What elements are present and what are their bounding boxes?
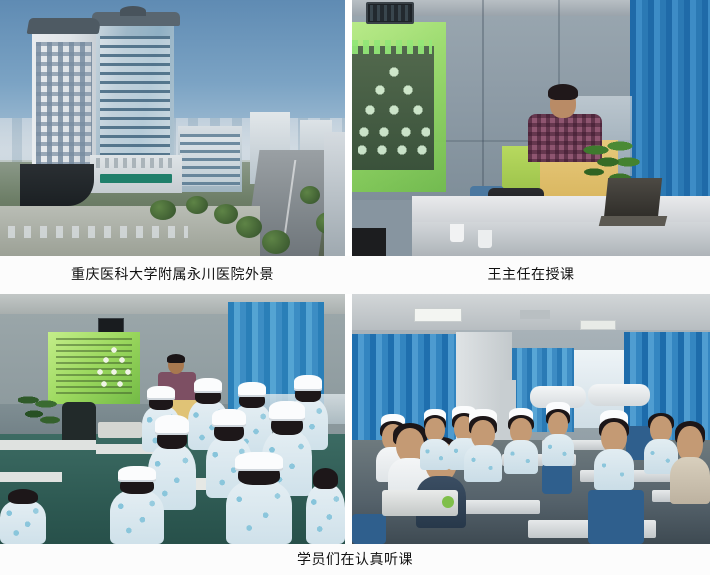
hospital-white-tower-roof [27, 18, 102, 34]
student-desk [0, 440, 96, 450]
caption-lecturer: 王主任在授课 [352, 265, 710, 285]
ceiling-light [414, 308, 462, 322]
paper-cup [478, 230, 492, 248]
training-mannequin [588, 384, 650, 406]
nurse-cap [147, 386, 174, 400]
attendee [594, 422, 634, 490]
classroom-chair [542, 464, 572, 494]
nurse-cap [269, 401, 305, 421]
nurse-cap [294, 375, 323, 391]
projector-lens-icon [442, 496, 454, 508]
nurse-hair [313, 468, 338, 488]
nurse-cap [212, 409, 245, 428]
right-edge-building [324, 132, 345, 256]
nurse-uniform [306, 484, 345, 544]
caption-row-top: 重庆医科大学附属永川医院外景 王主任在授课 [0, 256, 710, 294]
nurse-student [306, 484, 345, 544]
nurse-cap [238, 382, 267, 397]
lecturer-photo[interactable] [352, 0, 710, 256]
laptop-screen [604, 178, 662, 218]
attendee-uniform [504, 440, 538, 474]
classroom-chair [588, 490, 644, 544]
nurse-hair [8, 489, 37, 504]
nurse-student [226, 480, 292, 544]
nurse-uniform [110, 490, 164, 544]
audience-photo[interactable] [352, 294, 710, 544]
attendee-uniform [670, 457, 710, 504]
attendee-uniform [542, 434, 574, 466]
wall-panel-seam [482, 0, 484, 200]
nurse-cap [118, 466, 157, 482]
ceiling-vent [520, 310, 550, 319]
attendee [670, 426, 710, 504]
tree [186, 196, 208, 214]
hospital-exterior-photo[interactable] [0, 0, 345, 256]
potted-plant [18, 394, 60, 436]
ceiling-light [580, 320, 616, 330]
tree [150, 200, 176, 220]
projector [98, 422, 142, 438]
attendee-uniform [464, 445, 502, 482]
photo-row-bottom [0, 294, 710, 544]
nurse-cap [194, 378, 223, 393]
student-desk [0, 472, 62, 482]
lecturer-hair [548, 84, 578, 100]
attendee [542, 412, 574, 466]
tree [262, 230, 290, 254]
classroom-nurses-photo[interactable] [0, 294, 345, 544]
nurse-uniform [0, 500, 46, 544]
caption-hospital-exterior: 重庆医科大学附属永川医院外景 [0, 265, 345, 285]
photo-gallery-page: 重庆医科大学附属永川医院外景 王主任在授课 [0, 0, 710, 577]
lecturer-hair [167, 354, 185, 363]
slide-diagram [96, 346, 132, 390]
hospital-name-sign [100, 174, 172, 183]
photo-row-top [0, 0, 710, 256]
classroom-chair [352, 514, 386, 544]
attendee [504, 418, 538, 474]
hospital-wing-windows [180, 134, 240, 186]
nurse-uniform [226, 480, 292, 544]
laptop-keyboard [599, 216, 667, 226]
parked-cars [8, 226, 188, 238]
attendee-uniform [594, 449, 634, 490]
attendee-uniform [420, 439, 450, 470]
attendee [420, 418, 450, 470]
paper-cup [450, 224, 464, 242]
dark-glass-annex [20, 164, 94, 206]
tree [300, 186, 320, 204]
nurse-cap [235, 452, 283, 471]
nurse-student [110, 490, 164, 544]
podium-fins [96, 158, 176, 168]
wall-monitor-image [370, 5, 410, 21]
projection-glow [352, 22, 446, 192]
rooftop-dish [120, 6, 146, 16]
tree [214, 204, 238, 224]
caption-row-bottom: 学员们在认真听课 [0, 544, 710, 575]
foreground-chair [352, 228, 386, 256]
hospital-white-tower-windows [36, 42, 92, 174]
nurse-cap [155, 415, 190, 435]
attendee [464, 420, 502, 482]
caption-students-listening: 学员们在认真听课 [297, 550, 413, 570]
tree [236, 216, 262, 238]
nurse-student [0, 500, 46, 544]
